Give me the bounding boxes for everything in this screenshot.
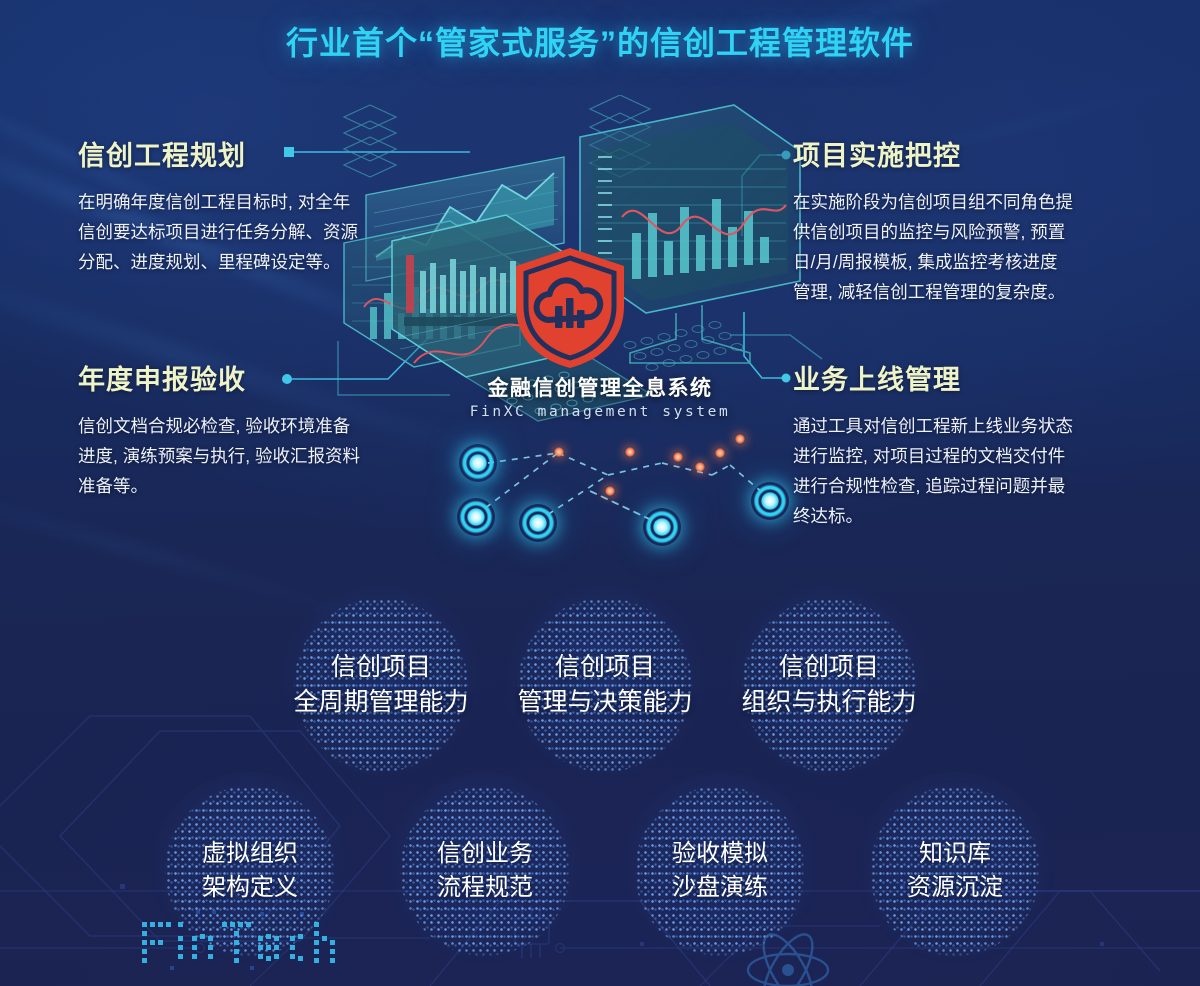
capability-label: 虚拟组织 架构定义 bbox=[202, 837, 298, 905]
network-accent-dot bbox=[715, 448, 726, 459]
network-node bbox=[751, 482, 789, 520]
system-name-en: FinXC management system bbox=[380, 404, 820, 420]
node-network bbox=[430, 425, 830, 555]
network-accent-dot bbox=[605, 486, 616, 497]
infographic-stage: 行业首个“管家式服务”的信创工程管理软件 bbox=[0, 0, 1200, 986]
capability-label: 知识库 资源沉淀 bbox=[907, 837, 1003, 905]
capability-line1: 信创项目 bbox=[555, 653, 655, 681]
capability-line1: 虚拟组织 bbox=[202, 840, 298, 867]
quadrant-body: 信创文档合规必检查, 验收环境准备 进度, 演练预案与执行, 验收汇报资料 准备… bbox=[78, 411, 423, 501]
network-node bbox=[519, 504, 557, 542]
capability-mid-3[interactable]: 信创项目 组织与执行能力 bbox=[729, 598, 929, 772]
capability-line2: 全周期管理能力 bbox=[293, 688, 468, 716]
capability-line2: 沙盘演练 bbox=[672, 874, 768, 901]
capability-label: 信创项目 组织与执行能力 bbox=[741, 650, 916, 721]
capability-bottom-2[interactable]: 信创业务 流程规范 bbox=[400, 786, 570, 956]
network-accent-dot bbox=[554, 447, 565, 458]
quadrant-body-line: 信创文档合规必检查, 验收环境准备 bbox=[78, 416, 350, 436]
network-node bbox=[457, 498, 495, 536]
capability-label: 信创项目 全周期管理能力 bbox=[293, 650, 468, 721]
network-accent-dot bbox=[695, 462, 706, 473]
quadrant-body: 在实施阶段为信创项目组不同角色提 供信创项目的监控与风险预警, 预置 日/月/周… bbox=[793, 187, 1138, 307]
capability-label: 信创业务 流程规范 bbox=[437, 837, 533, 905]
capability-line2: 资源沉淀 bbox=[907, 874, 1003, 901]
capability-line1: 信创项目 bbox=[779, 653, 879, 681]
capability-label: 信创项目 管理与决策能力 bbox=[517, 650, 692, 721]
quadrant-planning: 信创工程规划 在明确年度信创工程目标时, 对全年 信创要达标项目进行任务分解、资… bbox=[78, 134, 418, 277]
quadrant-body-line: 通过工具对信创工程新上线业务状态 bbox=[793, 416, 1073, 436]
network-node bbox=[459, 444, 497, 482]
page-title: 行业首个“管家式服务”的信创工程管理软件 bbox=[0, 18, 1200, 64]
quadrant-body-line: 在明确年度信创工程目标时, 对全年 bbox=[78, 192, 350, 212]
quadrant-body-line: 供信创项目的监控与风险预警, 预置 bbox=[793, 222, 1065, 242]
quadrant-heading: 项目实施把控 bbox=[793, 134, 1138, 173]
fintech-watermark bbox=[140, 908, 390, 972]
quadrant-body-line: 信创要达标项目进行任务分解、资源 bbox=[78, 222, 358, 242]
network-accent-dot bbox=[625, 447, 636, 458]
capability-mid-2[interactable]: 信创项目 管理与决策能力 bbox=[505, 598, 705, 772]
network-accent-dot bbox=[673, 452, 684, 463]
shield-cloud-chart-icon bbox=[508, 244, 632, 372]
capability-bottom-4[interactable]: 知识库 资源沉淀 bbox=[870, 786, 1040, 956]
quadrant-body-line: 日/月/周报模板, 集成监控考核进度 bbox=[793, 252, 1057, 272]
capability-line1: 知识库 bbox=[919, 840, 991, 867]
quadrant-body-line: 准备等。 bbox=[78, 476, 148, 496]
quadrant-heading: 业务上线管理 bbox=[793, 358, 1138, 397]
quadrant-body-line: 终达标。 bbox=[793, 506, 863, 526]
capability-mid-1[interactable]: 信创项目 全周期管理能力 bbox=[281, 598, 481, 772]
quadrant-body-line: 管理, 减轻信创工程管理的复杂度。 bbox=[793, 282, 1065, 302]
quadrant-implementation: 项目实施把控 在实施阶段为信创项目组不同角色提 供信创项目的监控与风险预警, 预… bbox=[793, 134, 1138, 307]
quadrant-body: 在明确年度信创工程目标时, 对全年 信创要达标项目进行任务分解、资源 分配、进度… bbox=[78, 187, 418, 277]
quadrant-body: 通过工具对信创工程新上线业务状态 进行监控, 对项目过程的文档交付件 进行合规性… bbox=[793, 411, 1138, 531]
capability-label: 验收模拟 沙盘演练 bbox=[672, 837, 768, 905]
atom-icon bbox=[718, 920, 858, 986]
system-name-cn: 金融信创管理全息系统 bbox=[380, 372, 820, 402]
quadrant-heading: 信创工程规划 bbox=[78, 134, 418, 173]
capability-line2: 管理与决策能力 bbox=[517, 688, 692, 716]
quadrant-business-launch: 业务上线管理 通过工具对信创工程新上线业务状态 进行监控, 对项目过程的文档交付… bbox=[793, 358, 1138, 531]
network-accent-dot bbox=[735, 434, 746, 445]
quadrant-body-line: 分配、进度规划、里程碑设定等。 bbox=[78, 252, 341, 272]
capability-line1: 验收模拟 bbox=[672, 840, 768, 867]
network-node bbox=[643, 508, 681, 546]
capability-line2: 架构定义 bbox=[202, 874, 298, 901]
quadrant-body-line: 在实施阶段为信创项目组不同角色提 bbox=[793, 192, 1073, 212]
quadrant-body-line: 进行合规性检查, 追踪过程问题并最 bbox=[793, 476, 1065, 496]
capability-line2: 组织与执行能力 bbox=[741, 688, 916, 716]
capability-line1: 信创项目 bbox=[331, 653, 431, 681]
quadrant-heading: 年度申报验收 bbox=[78, 358, 423, 397]
capability-line2: 流程规范 bbox=[437, 874, 533, 901]
quadrant-annual-acceptance: 年度申报验收 信创文档合规必检查, 验收环境准备 进度, 演练预案与执行, 验收… bbox=[78, 358, 423, 501]
quadrant-body-line: 进行监控, 对项目过程的文档交付件 bbox=[793, 446, 1065, 466]
center-system-caption: 金融信创管理全息系统 FinXC management system bbox=[380, 372, 820, 420]
quadrant-body-line: 进度, 演练预案与执行, 验收汇报资料 bbox=[78, 446, 360, 466]
capability-line1: 信创业务 bbox=[437, 840, 533, 867]
